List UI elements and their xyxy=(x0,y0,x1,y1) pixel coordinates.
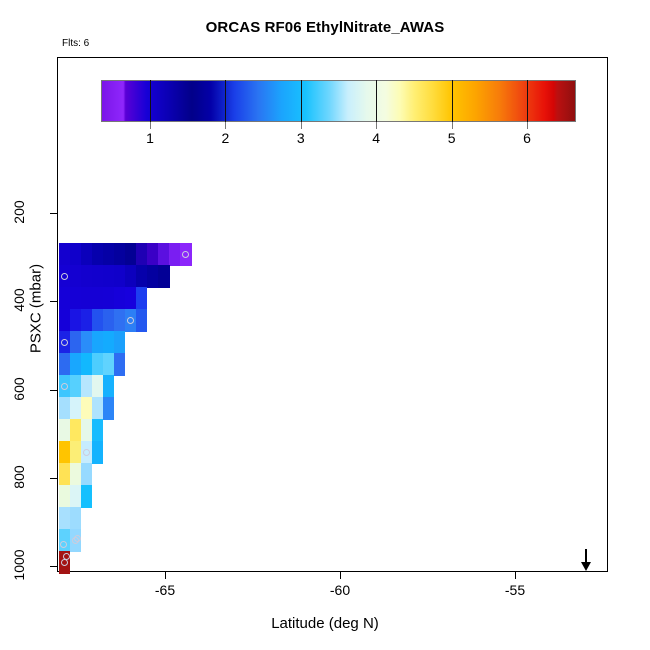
y-axis-tick xyxy=(50,213,57,214)
heatmap-cell xyxy=(59,441,71,464)
heatmap-cell xyxy=(103,353,115,376)
sample-marker xyxy=(182,251,189,258)
colorbar-separator xyxy=(527,80,528,122)
y-axis-tick xyxy=(50,566,57,567)
colorbar-tick xyxy=(527,122,528,129)
heatmap-cell xyxy=(59,419,71,442)
heatmap-cell xyxy=(114,309,126,332)
chart-canvas: ORCAS RF06 EthylNitrate_AWAS Flts: 6 MMD… xyxy=(0,0,650,650)
x-axis-tick-label: -65 xyxy=(155,582,175,598)
heatmap-cell xyxy=(103,375,115,398)
heatmap-cell xyxy=(103,309,115,332)
colorbar-separator xyxy=(301,80,302,122)
colorbar-tick-label: 2 xyxy=(221,130,229,146)
y-axis-label: PSXC (mbar) xyxy=(28,229,45,389)
heatmap-cell xyxy=(103,243,115,266)
heatmap-cell xyxy=(136,243,148,266)
heatmap-cell xyxy=(59,243,71,266)
heatmap-cell xyxy=(70,375,82,398)
heatmap-cell xyxy=(81,463,93,486)
colorbar-tick xyxy=(150,122,151,129)
heatmap-cell xyxy=(70,287,82,310)
heatmap-cell xyxy=(59,353,71,376)
y-axis-tick xyxy=(50,478,57,479)
colorbar-tick xyxy=(301,122,302,129)
y-axis-tick-label: 800 xyxy=(11,447,27,507)
heatmap-cell xyxy=(114,243,126,266)
heatmap-cell xyxy=(70,485,82,508)
sample-marker xyxy=(61,383,68,390)
heatmap-cell xyxy=(70,397,82,420)
heatmap-cell xyxy=(92,397,104,420)
heatmap-cell xyxy=(125,243,137,266)
colorbar-tick xyxy=(225,122,226,129)
heatmap-cell xyxy=(70,353,82,376)
heatmap-cell xyxy=(59,507,71,530)
heatmap-cell xyxy=(59,287,71,310)
heatmap-cell xyxy=(114,265,126,288)
x-axis-tick xyxy=(165,572,166,579)
y-axis-tick-label: 200 xyxy=(11,182,27,242)
heatmap-cell xyxy=(92,265,104,288)
sample-marker xyxy=(61,339,68,346)
x-axis-tick-label: -55 xyxy=(505,582,525,598)
heatmap-cell xyxy=(59,397,71,420)
heatmap-cell xyxy=(70,243,82,266)
heatmap-cell xyxy=(92,375,104,398)
x-axis-tick xyxy=(340,572,341,579)
heatmap-cell xyxy=(92,353,104,376)
heatmap-cell xyxy=(70,331,82,354)
colorbar-separator xyxy=(150,80,151,122)
sample-marker xyxy=(127,317,134,324)
heatmap-cell xyxy=(70,419,82,442)
heatmap-cell xyxy=(114,331,126,354)
colorbar-tick-label: 1 xyxy=(146,130,154,146)
sample-marker xyxy=(83,449,90,456)
heatmap-cell xyxy=(103,265,115,288)
heatmap-cell xyxy=(59,463,71,486)
heatmap-cell xyxy=(81,375,93,398)
heatmap-cell xyxy=(81,485,93,508)
colorbar: 123456 xyxy=(101,80,576,122)
heatmap-cell xyxy=(103,287,115,310)
heatmap-cell xyxy=(70,441,82,464)
sample-marker xyxy=(74,535,81,542)
heatmap-cell xyxy=(81,419,93,442)
heatmap-cell xyxy=(59,309,71,332)
colorbar-tick xyxy=(376,122,377,129)
heatmap-cell xyxy=(92,309,104,332)
colorbar-separator xyxy=(452,80,453,122)
heatmap-cell xyxy=(136,287,148,310)
heatmap-cell xyxy=(103,397,115,420)
colorbar-tick xyxy=(452,122,453,129)
colorbar-separator xyxy=(225,80,226,122)
flight-count-label: Flts: 6 xyxy=(62,38,89,49)
heatmap-cell xyxy=(147,243,159,266)
down-arrow-icon xyxy=(581,549,592,572)
colorbar-tick-label: 6 xyxy=(523,130,531,146)
heatmap-cell xyxy=(81,331,93,354)
colorbar-tick-label: 4 xyxy=(372,130,380,146)
colorbar-separator xyxy=(376,80,377,122)
sample-marker xyxy=(61,273,68,280)
y-axis-tick xyxy=(50,390,57,391)
heatmap-cell xyxy=(81,397,93,420)
x-axis-label: Latitude (deg N) xyxy=(0,615,650,632)
x-axis-tick-label: -60 xyxy=(330,582,350,598)
y-axis-tick-label: 1000 xyxy=(11,535,27,595)
sample-marker xyxy=(60,541,67,548)
heatmap-cell xyxy=(70,309,82,332)
heatmap-cell xyxy=(92,419,104,442)
heatmap-cell xyxy=(81,353,93,376)
heatmap-cell xyxy=(136,265,148,288)
page-title: ORCAS RF06 EthylNitrate_AWAS xyxy=(0,19,650,36)
x-axis-tick xyxy=(515,572,516,579)
heatmap-cell xyxy=(70,507,82,530)
heatmap-cell xyxy=(81,309,93,332)
heatmap-cell xyxy=(158,243,170,266)
y-axis-tick-label: 400 xyxy=(11,270,27,330)
heatmap-cell xyxy=(169,243,181,266)
heatmap-cell xyxy=(92,441,104,464)
y-axis-tick-label: 600 xyxy=(11,359,27,419)
heatmap-cell xyxy=(103,331,115,354)
colorbar-tick-label: 3 xyxy=(297,130,305,146)
heatmap-cell xyxy=(158,265,170,288)
heatmap-cell xyxy=(59,485,71,508)
heatmap-cell xyxy=(70,265,82,288)
heatmap-cell xyxy=(81,243,93,266)
heatmap-cell xyxy=(70,463,82,486)
colorbar-gradient xyxy=(101,80,576,122)
heatmap-cell xyxy=(114,353,126,376)
sample-marker xyxy=(63,553,70,560)
heatmap-cell xyxy=(136,309,148,332)
heatmap-cell xyxy=(114,287,126,310)
y-axis-tick xyxy=(50,301,57,302)
heatmap-cell xyxy=(125,265,137,288)
heatmap-cell xyxy=(81,265,93,288)
heatmap-cell xyxy=(92,287,104,310)
heatmap-cell xyxy=(92,331,104,354)
heatmap-cell xyxy=(81,287,93,310)
heatmap-cell xyxy=(92,243,104,266)
heatmap-cell xyxy=(147,265,159,288)
heatmap-cell xyxy=(125,287,137,310)
sample-marker xyxy=(61,559,68,566)
colorbar-tick-label: 5 xyxy=(448,130,456,146)
